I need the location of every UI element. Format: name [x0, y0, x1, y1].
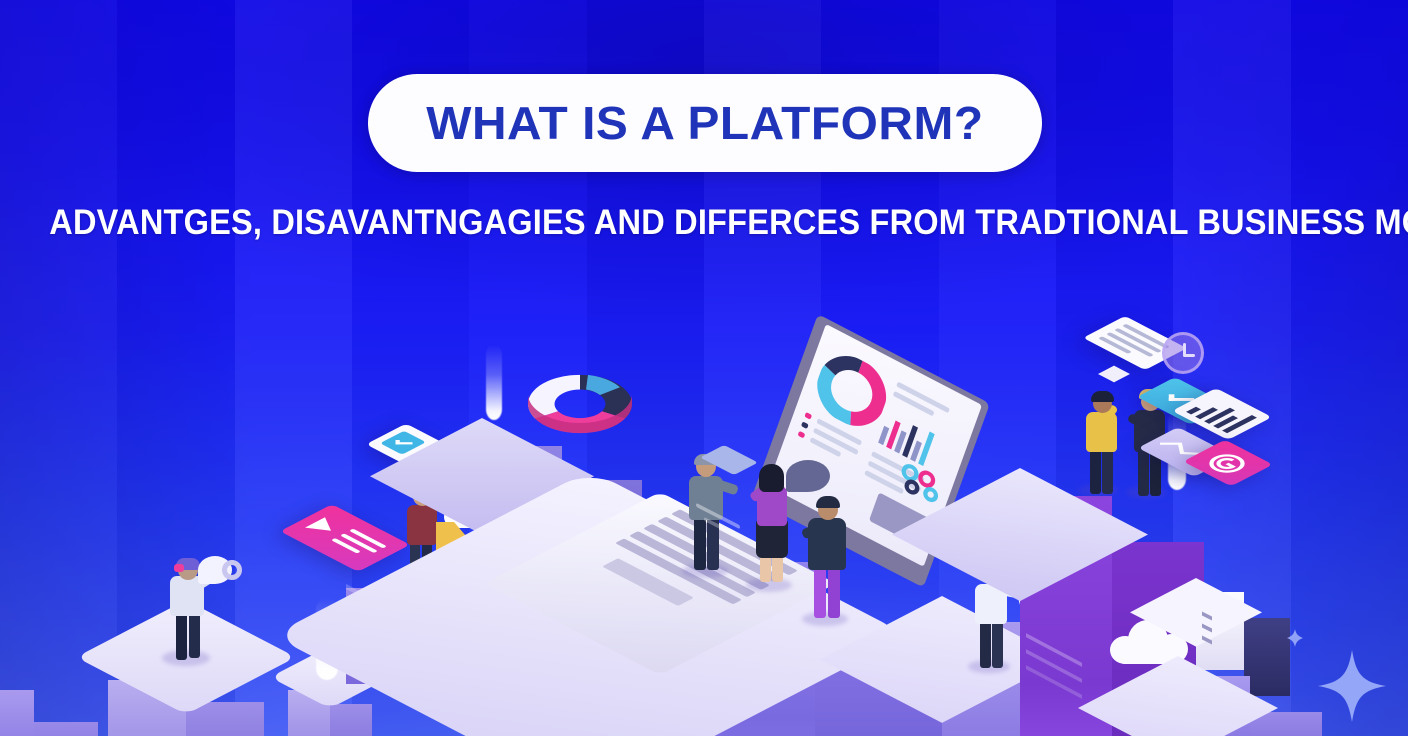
team-person-seated: [800, 492, 856, 628]
dashboard-widget-cluster: [895, 459, 949, 510]
server-platform: [1178, 656, 1278, 736]
sparkle-svg: [1316, 648, 1388, 724]
donut-svg: [516, 342, 644, 450]
sparkle-icon: [1316, 648, 1388, 724]
sparkle-small-icon: [1286, 628, 1304, 648]
title-pill: WHAT IS A PLATFORM?: [368, 74, 1042, 172]
server-box: [1196, 578, 1262, 644]
team-person-left: [680, 452, 732, 578]
vr-ring-icon: [222, 560, 242, 580]
sparkle-small-svg: [1286, 628, 1304, 648]
businessman-yellow: [1078, 392, 1124, 498]
left-edge-pillar: [0, 672, 60, 736]
donut-chart-pedestal: [516, 342, 644, 450]
play-icon: [305, 517, 341, 536]
clock-icon: [1162, 332, 1204, 374]
speech-bubble-dark: [786, 460, 830, 492]
donut-pedestal-glow: [486, 344, 502, 420]
page-title: WHAT IS A PLATFORM?: [426, 96, 983, 150]
slide-canvas: WHAT IS A PLATFORM? ADVANTGES, DISAVANTN…: [0, 0, 1408, 736]
page-subtitle: ADVANTGES, DISAVANTNGAGIES AND DIFFERCES…: [49, 203, 1358, 243]
